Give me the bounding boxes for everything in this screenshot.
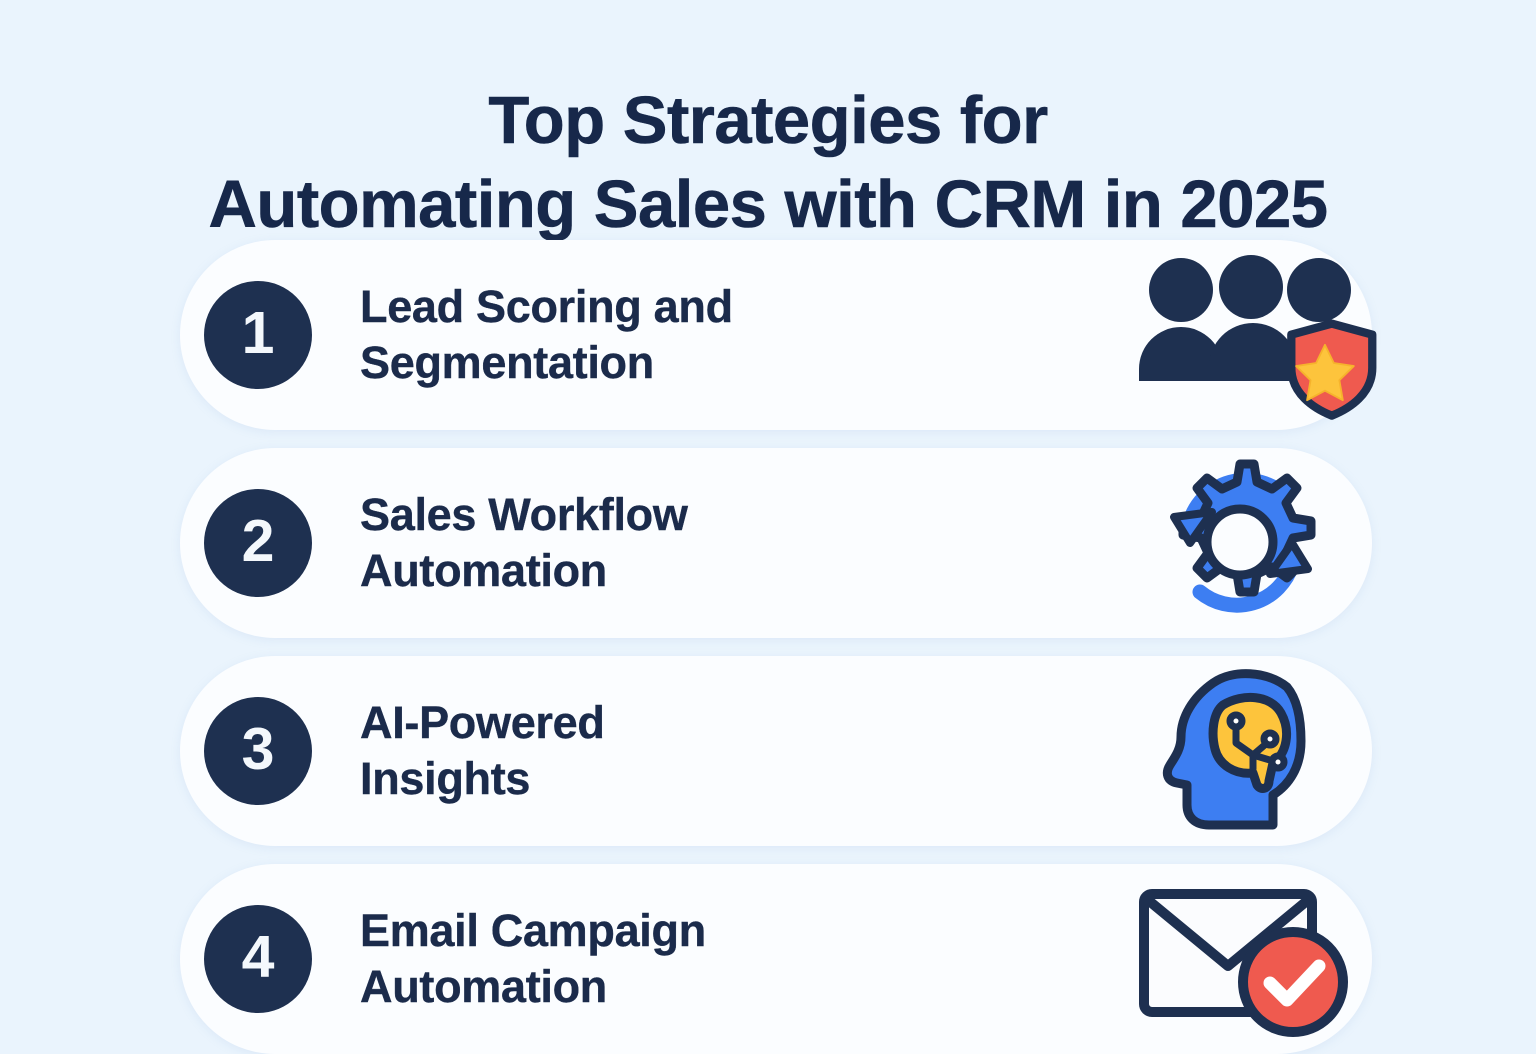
card-number-badge-2: 2 (204, 489, 312, 597)
page-title: Top Strategies for Automating Sales with… (0, 79, 1536, 247)
card-label-4-line-2: Automation (360, 959, 1116, 1015)
infographic-page: Top Strategies for Automating Sales with… (0, 0, 1536, 1024)
card-label-3-line-2: Insights (360, 751, 1116, 807)
card-label-3-line-1: AI-Powered (360, 695, 1116, 751)
strategy-card-2[interactable]: 2 Sales Workflow Automation (180, 448, 1372, 638)
card-number-badge-4: 4 (204, 905, 312, 1013)
strategy-card-3[interactable]: 3 AI-Powered Insights (180, 656, 1372, 846)
card-label-1: Lead Scoring and Segmentation (360, 279, 1116, 391)
strategy-card-4[interactable]: 4 Email Campaign Automation (180, 864, 1372, 1054)
head-brain-circuit-icon (1116, 656, 1366, 846)
card-label-4: Email Campaign Automation (360, 903, 1116, 1015)
card-label-3: AI-Powered Insights (360, 695, 1116, 807)
strategy-card-1[interactable]: 1 Lead Scoring and Segmentation (180, 240, 1372, 430)
envelope-check-circle-icon (1116, 864, 1366, 1054)
card-label-4-line-1: Email Campaign (360, 903, 1116, 959)
card-label-2: Sales Workflow Automation (360, 487, 1116, 599)
people-group-shield-star-icon (1116, 240, 1366, 430)
page-title-line-2: Automating Sales with CRM in 2025 (0, 163, 1536, 247)
card-label-1-line-2: Segmentation (360, 335, 1116, 391)
gear-refresh-arrows-icon (1116, 448, 1366, 638)
card-number-badge-3: 3 (204, 697, 312, 805)
card-label-2-line-1: Sales Workflow (360, 487, 1116, 543)
card-number-badge-1: 1 (204, 281, 312, 389)
page-title-line-1: Top Strategies for (0, 79, 1536, 163)
card-label-1-line-1: Lead Scoring and (360, 279, 1116, 335)
strategy-card-list: 1 Lead Scoring and Segmentation (180, 240, 1372, 1054)
card-label-2-line-2: Automation (360, 543, 1116, 599)
